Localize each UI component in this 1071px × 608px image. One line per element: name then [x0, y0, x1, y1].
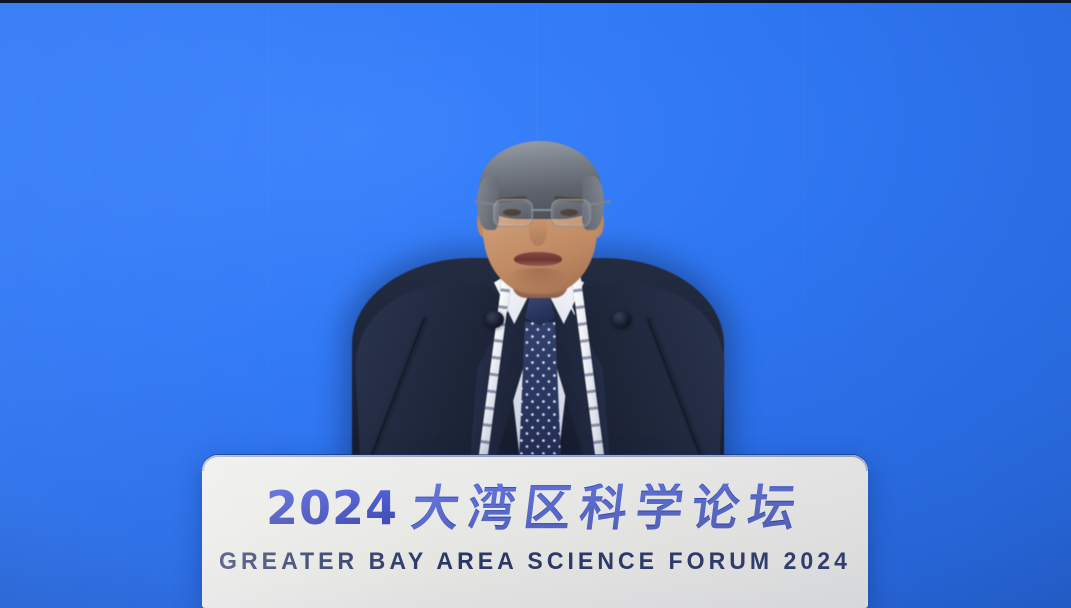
microphone-head-right	[612, 311, 631, 328]
podium-english-title: GREATER BAY AREA SCIENCE FORUM 2024	[215, 548, 854, 576]
nose	[529, 216, 547, 246]
eyeglasses-lens-right	[551, 199, 591, 227]
podium-chinese-title: 大湾区科学论坛	[409, 484, 807, 534]
microphone-head-left	[485, 311, 504, 328]
screenshot-root: 2024 大湾区科学论坛 GREATER BAY AREA SCIENCE FO…	[0, 0, 1071, 608]
podium-title-line-chinese: 2024 大湾区科学论坛	[202, 485, 868, 532]
eyeglasses-bridge	[531, 209, 551, 211]
chin-shadow	[506, 268, 570, 288]
podium-signage: 2024 大湾区科学论坛 GREATER BAY AREA SCIENCE FO…	[202, 485, 868, 576]
eyeglasses-lens-left	[493, 199, 533, 227]
letterbox-bar-top	[0, 0, 1071, 3]
podium-year-label: 2024	[266, 485, 398, 531]
mouth	[514, 252, 562, 266]
necktie-blade	[519, 322, 561, 464]
speaking-podium: 2024 大湾区科学论坛 GREATER BAY AREA SCIENCE FO…	[202, 455, 868, 608]
